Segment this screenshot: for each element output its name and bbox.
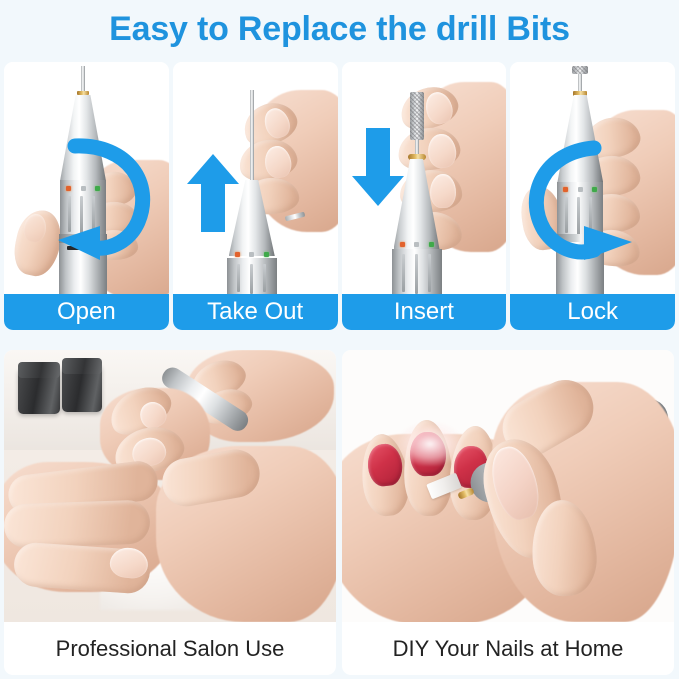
drill-bit-shaft xyxy=(81,66,85,92)
lock-indicator-icon xyxy=(264,252,269,257)
arrow-down-icon xyxy=(352,128,404,206)
pen-indicator-strip xyxy=(235,252,269,257)
indicator-dot xyxy=(414,242,419,247)
step-photo-take-out xyxy=(173,62,338,294)
step-photo-insert xyxy=(342,62,507,294)
pen-vent-slot xyxy=(402,254,405,292)
infographic-page: Easy to Replace the drill Bits xyxy=(0,0,679,679)
step-label-insert: Insert xyxy=(342,294,507,330)
rotate-counterclockwise-arrow-icon xyxy=(20,140,160,260)
arrow-up-icon xyxy=(187,154,239,232)
fingernail xyxy=(430,174,456,208)
use-case-photo-salon xyxy=(4,350,336,622)
bit-collar xyxy=(77,91,89,95)
finger xyxy=(4,499,151,548)
rotate-clockwise-arrow-icon xyxy=(528,144,668,262)
step-card-insert[interactable]: Insert xyxy=(342,62,507,330)
step-label-take-out: Take Out xyxy=(173,294,338,330)
step-photo-lock xyxy=(510,62,675,294)
pen-indicator-strip xyxy=(400,242,434,247)
use-case-card-salon[interactable]: Professional Salon Use xyxy=(4,350,336,675)
filing-dust xyxy=(398,422,462,466)
pen-vent-slot xyxy=(263,264,266,292)
use-cases-row: Professional Salon Use xyxy=(4,350,675,675)
polish-jar-lid xyxy=(18,362,60,378)
step-card-take-out[interactable]: Take Out xyxy=(173,62,338,330)
step-card-open[interactable]: Open xyxy=(4,62,169,330)
pen-vent-slot xyxy=(415,254,418,294)
use-case-photo-home xyxy=(342,350,674,622)
step-card-lock[interactable]: Lock xyxy=(510,62,675,330)
step-label-lock: Lock xyxy=(510,294,675,330)
drill-bit-shaft xyxy=(250,90,254,180)
drill-bit-shaft xyxy=(578,74,582,92)
unlock-indicator-icon xyxy=(400,242,405,247)
step-photo-open xyxy=(4,62,169,294)
indicator-dot xyxy=(249,252,254,257)
use-case-caption-salon: Professional Salon Use xyxy=(4,629,336,669)
polish-jar-lid xyxy=(62,358,102,374)
diamond-drill-bit xyxy=(410,92,424,140)
use-case-card-home[interactable]: DIY Your Nails at Home xyxy=(342,350,674,675)
lock-indicator-icon xyxy=(429,242,434,247)
step-label-open: Open xyxy=(4,294,169,330)
unlock-indicator-icon xyxy=(235,252,240,257)
pen-vent-slot xyxy=(250,264,253,294)
page-title: Easy to Replace the drill Bits xyxy=(0,0,679,58)
pen-vent-slot xyxy=(428,254,431,292)
pen-vent-slot xyxy=(237,264,240,292)
use-case-caption-home: DIY Your Nails at Home xyxy=(342,629,674,669)
drill-bit-head xyxy=(572,66,588,74)
steps-row: Open xyxy=(4,62,675,330)
